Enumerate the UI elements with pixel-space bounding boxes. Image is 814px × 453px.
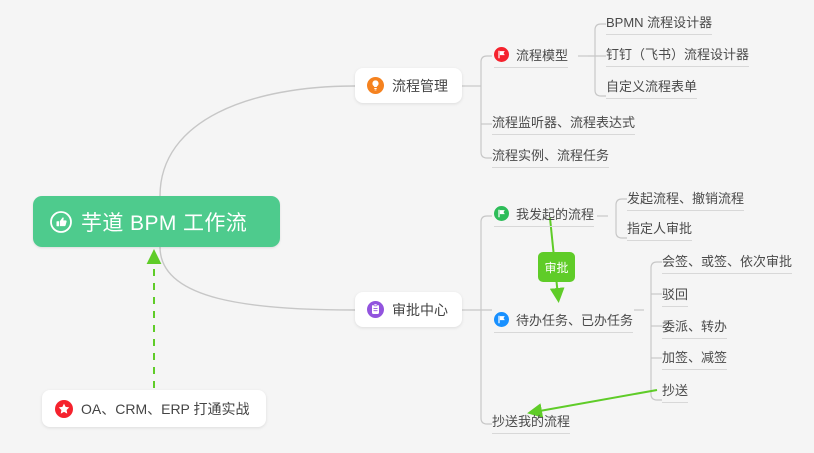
integration-card-label: OA、CRM、ERP 打通实战 [81, 399, 250, 419]
leaf-cc-to-me[interactable]: 抄送我的流程 [492, 411, 570, 434]
link-root-to-branch-0 [160, 86, 355, 196]
node-label: 待办任务、已办任务 [516, 310, 633, 329]
mindmap-canvas: 芋道 BPM 工作流 流程管理 流程模型 BPMN 流程设计器 钉钉（飞书）流程… [0, 0, 814, 453]
thumbs-up-icon [50, 211, 72, 233]
flag-icon-red [494, 47, 509, 62]
root-label: 芋道 BPM 工作流 [81, 207, 247, 237]
leaf-start-cancel-process[interactable]: 发起流程、撤销流程 [627, 188, 744, 211]
flag-icon-green [494, 206, 509, 221]
leaf-cc[interactable]: 抄送 [662, 380, 688, 403]
link-branch1-bottom-elbow [481, 418, 492, 424]
branch-label: 流程管理 [392, 76, 448, 96]
node-label: 我发起的流程 [516, 204, 594, 223]
star-icon [55, 400, 73, 418]
leaf-dingtalk-designer[interactable]: 钉钉（飞书）流程设计器 [606, 44, 749, 67]
leaf-delegate-transfer[interactable]: 委派、转办 [662, 316, 727, 339]
leaf-add-remove-sign[interactable]: 加签、减签 [662, 347, 727, 370]
node-todo-done-tasks[interactable]: 待办任务、已办任务 [494, 310, 633, 333]
leaf-process-listener-expression[interactable]: 流程监听器、流程表达式 [492, 112, 635, 135]
leaf-countersign[interactable]: 会签、或签、依次审批 [662, 251, 792, 274]
node-process-model[interactable]: 流程模型 [494, 45, 568, 68]
arrow-cc-to-ccmine [534, 390, 657, 412]
clipboard-icon [367, 301, 384, 318]
approval-tag: 审批 [538, 252, 575, 282]
link-mine-top-elbow [616, 199, 627, 205]
link-branch1-top-elbow [481, 216, 492, 222]
link-mine-bottom-elbow [616, 232, 627, 238]
node-label: 流程模型 [516, 45, 568, 64]
link-branch0-top-elbow [481, 56, 492, 62]
link-todo-bottom-elbow [651, 394, 662, 400]
approval-tag-label: 审批 [544, 259, 568, 276]
node-my-initiated-processes[interactable]: 我发起的流程 [494, 204, 594, 227]
leaf-reject[interactable]: 驳回 [662, 284, 688, 307]
leaf-custom-form[interactable]: 自定义流程表单 [606, 76, 697, 99]
branch-node-process-management[interactable]: 流程管理 [355, 68, 462, 103]
leaf-assignee-approval[interactable]: 指定人审批 [627, 218, 692, 241]
flag-icon-blue [494, 312, 509, 327]
link-model-top-elbow [595, 24, 606, 30]
link-todo-i2 [644, 310, 662, 326]
lightbulb-icon [367, 77, 384, 94]
leaf-bpmn-designer[interactable]: BPMN 流程设计器 [606, 12, 712, 35]
integration-card[interactable]: OA、CRM、ERP 打通实战 [42, 390, 266, 427]
branch-node-approval-center[interactable]: 审批中心 [355, 292, 462, 327]
root-node[interactable]: 芋道 BPM 工作流 [33, 196, 280, 247]
link-todo-top-elbow [651, 262, 662, 268]
leaf-process-instance-task[interactable]: 流程实例、流程任务 [492, 145, 609, 168]
branch-label: 审批中心 [392, 300, 448, 320]
link-model-bottom-elbow [595, 90, 606, 96]
link-root-to-branch-1 [160, 247, 355, 310]
link-branch0-bottom-elbow [481, 152, 492, 158]
